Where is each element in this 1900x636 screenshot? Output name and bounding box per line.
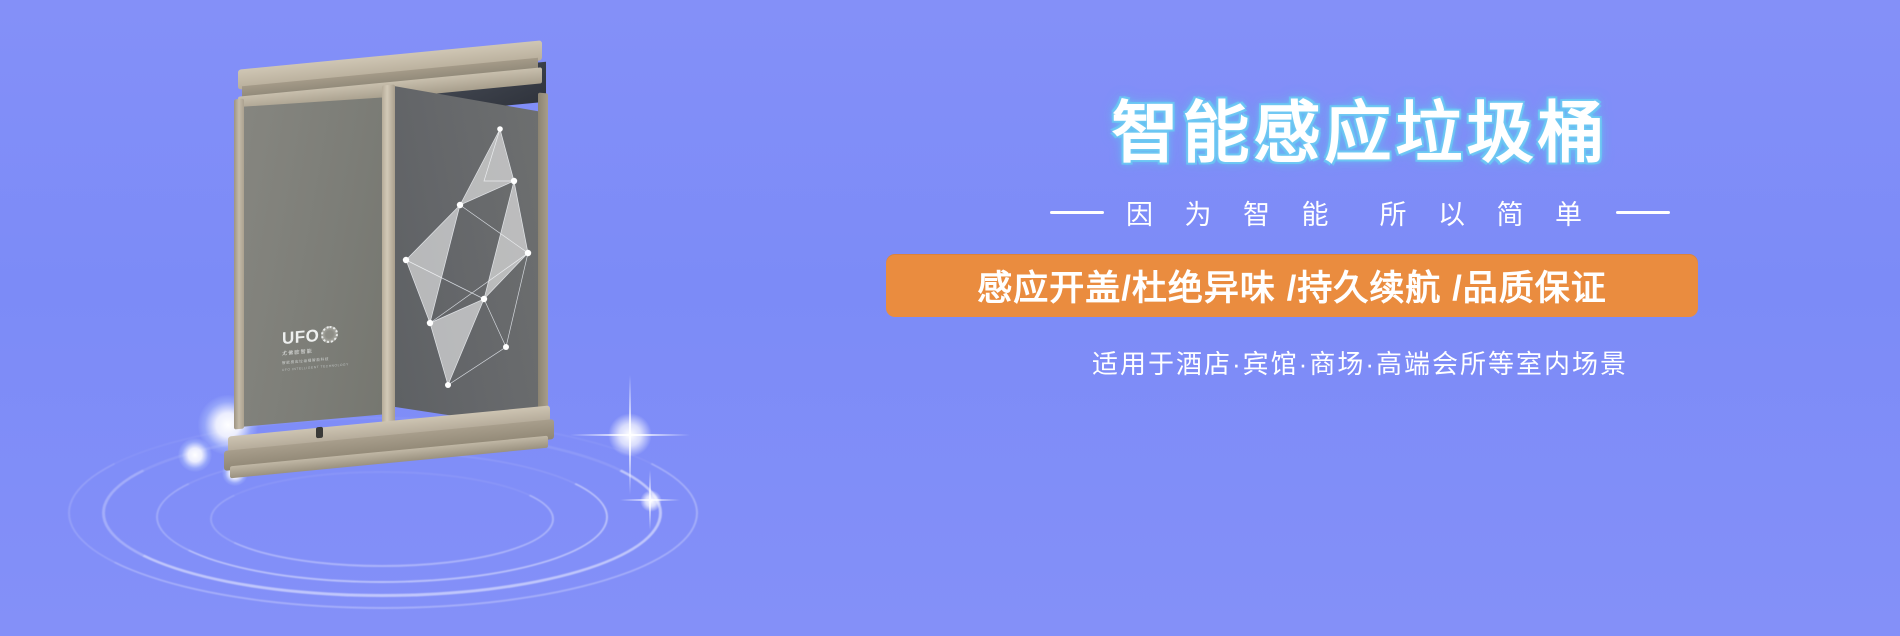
banner-copy: 智能感应垃圾桶 因 为 智 能 所 以 简 单 感应开盖/杜绝异味 /持久续航 … [880, 100, 1840, 381]
rule-right-icon [1616, 211, 1670, 214]
bin-lock-icon [316, 427, 323, 439]
product-trash-bin: UFO 尤佛欧智能 智能感应垃圾桶智能科技 UFO INTELLIGENT TE… [220, 55, 560, 455]
logo-circle-icon [321, 325, 338, 343]
light-ring-3 [210, 471, 554, 567]
usage-scene-line: 适用于酒店·宾馆·商场·高端会所等室内场景 [880, 344, 1840, 381]
banner-subline-text: 因 为 智 能 所 以 简 单 [1126, 193, 1594, 232]
feature-highlight-text: 感应开盖/杜绝异味 /持久续航 /品质保证 [977, 260, 1607, 311]
bin-face-left [240, 97, 390, 427]
sparkle-core-icon [608, 413, 652, 457]
bin-edge-post-left [234, 99, 244, 430]
sparkle-core-icon [640, 490, 662, 512]
bin-corner-post [382, 84, 395, 433]
logo-mark: UFO [282, 324, 354, 347]
feature-highlight-band: 感应开盖/杜绝异味 /持久续航 /品质保证 [886, 254, 1698, 317]
rule-left-icon [1050, 211, 1104, 214]
promo-banner: UFO 尤佛欧智能 智能感应垃圾桶智能科技 UFO INTELLIGENT TE… [0, 0, 1900, 636]
product-brand-logo: UFO 尤佛欧智能 智能感应垃圾桶智能科技 UFO INTELLIGENT TE… [282, 324, 354, 372]
polygon-network-graphic [388, 85, 546, 430]
bin-edge-post-right [538, 93, 548, 432]
glow-dot-icon [178, 438, 212, 472]
bin-face-right [388, 85, 546, 430]
product-stage: UFO 尤佛欧智能 智能感应垃圾桶智能科技 UFO INTELLIGENT TE… [60, 20, 720, 620]
logo-wordmark: UFO [282, 327, 319, 347]
banner-headline: 智能感应垃圾桶 [880, 100, 1840, 167]
banner-subline: 因 为 智 能 所 以 简 单 [880, 193, 1840, 232]
